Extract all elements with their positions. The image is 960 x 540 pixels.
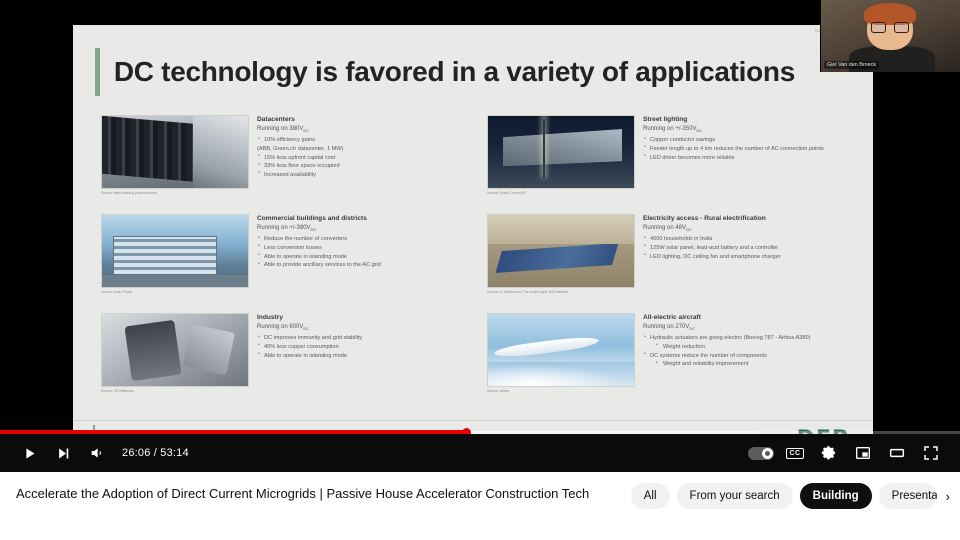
industry-thumb-wrap: Source: Ofi Wikipedia [101,313,249,403]
datacenter-thumb-wrap: Source: https://www.g-puschend.com [101,115,249,205]
aircraft-thumb-wrap: Source: Airbus [487,313,635,403]
presentation-slide: DC technology is favored in a variety of… [73,25,873,462]
bullet: 10% efficiency gains [257,136,475,145]
captions-button[interactable]: CC [778,436,812,470]
filter-chip-bar: All From your search Building Presentati… [631,483,952,509]
street-thumb-wrap: Source: Direct Current BV [487,115,635,205]
bullet: Weight reduction [643,343,861,352]
commercial-heading: Commercial buildings and districts [257,215,475,222]
bullet: DC improves immunity and grid stability [257,334,475,343]
rural-thumb-wrap: Source: A. Moderncios, The project gets … [487,214,635,304]
slide-title: DC technology is favored in a variety of… [114,56,795,88]
time-display: 26:06 / 53:14 [122,447,189,459]
bullet: Hydraulic actuators are going electric (… [643,334,861,343]
industry-photo-caption: Source: Ofi Wikipedia [101,389,249,393]
rural-voltage-text: Running on 48V [643,225,686,231]
aircraft-voltage-text: Running on 270V [643,324,689,330]
section-datacenters: Source: https://www.g-puschend.com Datac… [101,115,475,205]
video-player-stage[interactable]: DC technology is favored in a variety of… [0,0,960,472]
street-voltage: Running on +/-350VDC [643,126,861,133]
section-all-electric-aircraft: Source: Airbus All-electric aircraft Run… [487,313,861,403]
aircraft-heading: All-electric aircraft [643,314,861,321]
industry-voltage-text: Running on 600V [257,324,303,330]
rural-text: Electricity access - Rural electrificati… [643,214,861,304]
street-voltage-sub: DC [697,128,703,133]
autoplay-toggle[interactable] [744,436,778,470]
chip-from-your-search[interactable]: From your search [677,483,793,509]
street-text: Street lighting Running on +/-350VDC Cop… [643,115,861,205]
street-voltage-text: Running on +/-350V [643,126,697,132]
datacenter-heading: Datacenters [257,116,475,123]
industry-bullets: DC improves immunity and grid stability … [257,334,475,360]
aircraft-text: All-electric aircraft Running on 270VDC … [643,313,861,403]
play-button[interactable] [12,436,46,470]
chevron-right-icon[interactable]: › [944,489,952,504]
bullet: DC systems reduce the number of componen… [643,352,861,361]
bullet: LED driver becomes more reliable [643,154,861,163]
commercial-bullets: Reduce the number of converters Less con… [257,235,475,270]
below-player-area: Accelerate the Adoption of Direct Curren… [0,472,960,540]
section-street-lighting: Source: Direct Current BV Street lightin… [487,115,861,205]
commercial-building-photo [101,214,249,288]
bullet: 4000 households in India [643,235,861,244]
settings-button[interactable] [812,436,846,470]
bullet: Able to operate in islanding mode [257,253,475,262]
industry-photo [101,313,249,387]
bullet: Able to operate in islanding mode [257,352,475,361]
chip-presentation[interactable]: Presentation [879,483,937,509]
rural-solar-photo [487,214,635,288]
aircraft-voltage-sub: DC [689,326,695,331]
miniplayer-button[interactable] [846,436,880,470]
autoplay-switch[interactable] [748,447,774,460]
street-heading: Street lighting [643,116,861,123]
bullet: Reduce the number of converters [257,235,475,244]
datacenter-photo [101,115,249,189]
bullet: Able to provide ancillary services to th… [257,261,475,270]
commercial-photo-caption: Source: Arctic Power [101,290,249,294]
right-column: Source: Direct Current BV Street lightin… [487,115,861,415]
next-video-button[interactable] [46,436,80,470]
volume-button[interactable] [80,436,114,470]
theater-mode-button[interactable] [880,436,914,470]
rural-voltage: Running on 48VDC [643,225,861,232]
presenter-webcam-overlay: Giel Van den Broeck [820,0,960,72]
chip-all[interactable]: All [631,483,670,509]
bullet: 125W solar panel, lead-acid battery and … [643,244,861,253]
bullet: Increased availability [257,171,475,180]
street-bullets: Copper conductor savings Feeder length u… [643,136,861,162]
bullet: Feeder length up to 4 km reduces the num… [643,145,861,154]
player-controls-bar: 26:06 / 53:14 CC [0,434,960,472]
street-photo-caption: Source: Direct Current BV [487,191,635,195]
left-column: Source: https://www.g-puschend.com Datac… [101,115,475,415]
datacenter-photo-caption: Source: https://www.g-puschend.com [101,191,249,195]
cc-icon: CC [786,448,803,459]
datacenter-voltage-sub: DC [303,128,309,133]
fullscreen-button[interactable] [914,436,948,470]
bullet: 15% less upfront capital cost [257,154,475,163]
youtube-watch-page: DC technology is favored in a variety of… [0,0,960,540]
section-industry: Source: Ofi Wikipedia Industry Running o… [101,313,475,403]
industry-voltage: Running on 600VDC [257,324,475,331]
rural-photo-caption: Source: A. Moderncios, The project gets … [487,290,635,294]
section-rural-electrification: Source: A. Moderncios, The project gets … [487,214,861,304]
industry-text: Industry Running on 600VDC DC improves i… [257,313,475,403]
commercial-voltage-text: Running on +/-380V [257,225,311,231]
chip-building[interactable]: Building [800,483,872,509]
rural-voltage-sub: DC [686,227,692,232]
bullet: LED lighting, DC ceiling fan and smartph… [643,253,861,262]
commercial-text: Commercial buildings and districts Runni… [257,214,475,304]
aircraft-photo-caption: Source: Airbus [487,389,635,393]
datacenter-voltage: Running on 380VDC [257,126,475,133]
bullet: Copper conductor savings [643,136,861,145]
aircraft-voltage: Running on 270VDC [643,324,861,331]
video-title: Accelerate the Adoption of Direct Curren… [16,486,589,501]
presenter-name-label: Giel Van den Broeck [824,61,879,69]
datacenter-bullets: 10% efficiency gains (ABB, Green.ch data… [257,136,475,179]
datacenter-voltage-text: Running on 380V [257,126,303,132]
glasses-icon [871,22,909,33]
industry-voltage-sub: DC [303,326,309,331]
title-accent-bar [95,48,100,96]
street-lighting-photo [487,115,635,189]
aircraft-photo [487,313,635,387]
bullet: Weight and reliability improvement [643,360,861,369]
section-commercial-buildings: Source: Arctic Power Commercial building… [101,214,475,304]
datacenter-text: Datacenters Running on 380VDC 10% effici… [257,115,475,205]
slide-content-columns: Source: https://www.g-puschend.com Datac… [101,115,861,415]
rural-heading: Electricity access - Rural electrificati… [643,215,861,222]
aircraft-bullets: Hydraulic actuators are going electric (… [643,334,861,369]
commercial-voltage: Running on +/-380VDC [257,225,475,232]
bullet: (ABB, Green.ch datacenter, 1 MW) [257,145,475,154]
industry-heading: Industry [257,314,475,321]
bullet: 40% less copper consumption [257,343,475,352]
slide-title-row: DC technology is favored in a variety of… [95,43,795,101]
commercial-voltage-sub: DC [311,227,317,232]
commercial-thumb-wrap: Source: Arctic Power [101,214,249,304]
bullet: 33% less floor space occupied [257,162,475,171]
bullet: Less conversion losses [257,244,475,253]
rural-bullets: 4000 households in India 125W solar pane… [643,235,861,261]
